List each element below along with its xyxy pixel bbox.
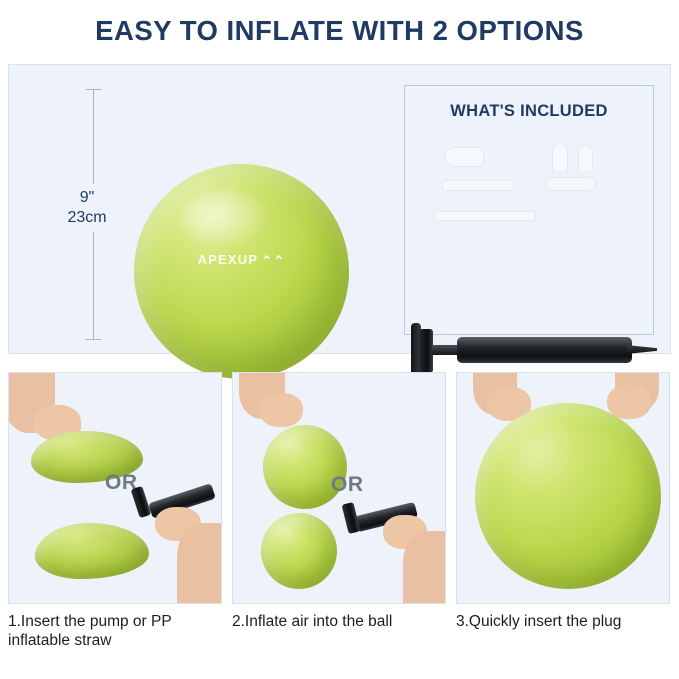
hand: [607, 385, 651, 419]
dimension-cm: 23cm: [39, 208, 135, 228]
mini-pump-handle: [131, 486, 152, 518]
or-label-2: OR: [331, 473, 364, 497]
plug-icon: [445, 148, 483, 166]
whats-included-box: WHAT'S INCLUDED: [404, 85, 654, 335]
straw-icon: [443, 181, 513, 190]
deflated-ball: [35, 523, 149, 579]
mountain-icon: ⌃⌃: [261, 253, 285, 269]
step-3: 3.Quickly insert the plug: [456, 372, 670, 672]
step-2-image: OR: [232, 372, 446, 604]
ball-highlight: [181, 190, 271, 250]
steps-row: OR 1.Insert the pump or PP inflatable st…: [8, 372, 671, 672]
step-1-image: OR: [8, 372, 222, 604]
brand-logo: APEXUP⌃⌃: [134, 252, 349, 268]
straw-icon: [435, 212, 535, 220]
exercise-ball-main: APEXUP⌃⌃: [134, 164, 349, 379]
arm: [177, 523, 222, 604]
hero-panel: 9" 23cm APEXUP⌃⌃ WHAT'S INCLUDED: [8, 64, 671, 354]
step-2-caption: 2.Inflate air into the ball: [232, 612, 446, 631]
straw-icon: [547, 178, 595, 190]
step-2: OR 2.Inflate air into the ball: [232, 372, 446, 672]
step-3-caption: 3.Quickly insert the plug: [456, 612, 670, 631]
pump-nozzle: [627, 345, 657, 354]
dimension-label: 9" 23cm: [39, 184, 135, 232]
header: EASY TO INFLATE WITH 2 OPTIONS: [0, 0, 679, 62]
arm: [403, 531, 446, 604]
step-1-caption: 1.Insert the pump or PP inflatable straw: [8, 612, 222, 650]
plug-icon: [553, 144, 567, 172]
exercise-ball-large: [475, 403, 661, 589]
dimension-cap-bottom: [86, 339, 101, 340]
step-1: OR 1.Insert the pump or PP inflatable st…: [8, 372, 222, 672]
hand: [259, 393, 303, 427]
step-3-image: [456, 372, 670, 604]
dimension-cap-top: [86, 89, 101, 90]
exercise-ball-small: [261, 513, 337, 589]
dimension-inches: 9": [39, 188, 135, 208]
product-infographic: EASY TO INFLATE WITH 2 OPTIONS 9" 23cm A…: [0, 0, 679, 679]
pump-barrel: [457, 337, 632, 363]
page-title: EASY TO INFLATE WITH 2 OPTIONS: [95, 15, 584, 47]
pump-handle: [419, 329, 433, 373]
plug-icon: [579, 146, 592, 172]
brand-name: APEXUP: [198, 252, 259, 267]
whats-included-title: WHAT'S INCLUDED: [405, 102, 653, 121]
